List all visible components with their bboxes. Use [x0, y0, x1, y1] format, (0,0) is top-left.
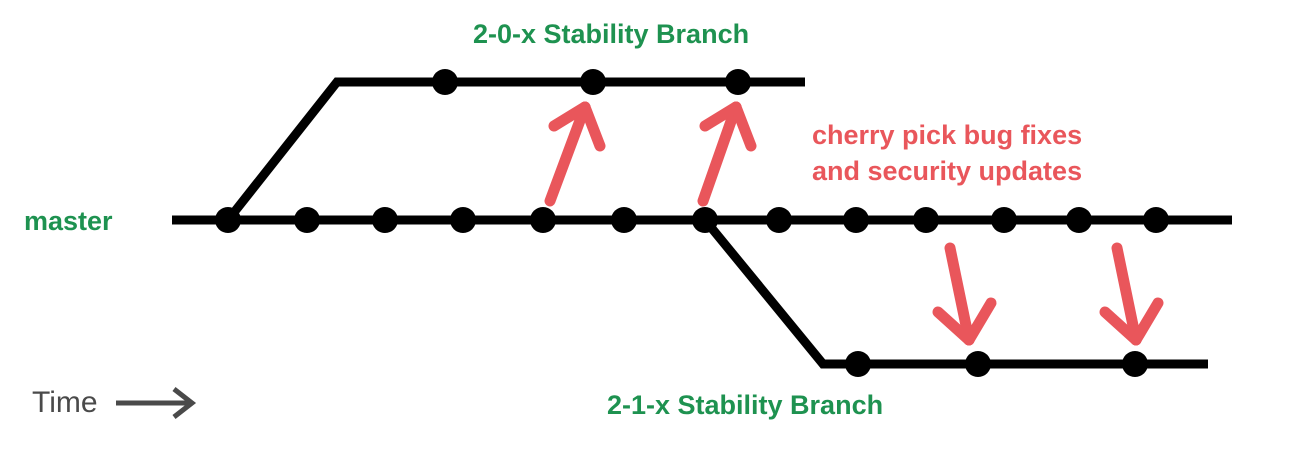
commit-dot[interactable]	[766, 207, 792, 233]
commit-dot[interactable]	[580, 69, 606, 95]
time-axis-label: Time	[32, 386, 98, 420]
bottom-branch-title: 2-1-x Stability Branch	[607, 390, 883, 421]
commit-dot[interactable]	[1122, 351, 1148, 377]
commit-dot[interactable]	[432, 69, 458, 95]
commit-dot[interactable]	[991, 207, 1017, 233]
master-lane-label: master	[24, 206, 113, 237]
commit-dot[interactable]	[611, 207, 637, 233]
commit-dot[interactable]	[530, 207, 556, 233]
commit-dot[interactable]	[450, 207, 476, 233]
commit-dot[interactable]	[1066, 207, 1092, 233]
cherry-pick-arrow-up-2	[703, 107, 751, 201]
commit-dot[interactable]	[913, 207, 939, 233]
commit-dot[interactable]	[965, 351, 991, 377]
commit-dot[interactable]	[372, 207, 398, 233]
time-axis: Time	[32, 386, 204, 420]
commit-dot[interactable]	[294, 207, 320, 233]
git-branching-diagram: 2-0-x Stability Branch 2-1-x Stability B…	[0, 0, 1310, 456]
cherry-pick-annotation-line1: cherry pick bug fixes	[812, 117, 1082, 153]
right-arrow-icon	[114, 386, 204, 420]
commit-dot[interactable]	[845, 351, 871, 377]
cherry-pick-annotation-line2: and security updates	[812, 153, 1082, 189]
commit-dot[interactable]	[1143, 207, 1169, 233]
cherry-pick-arrow-down-2	[1105, 248, 1158, 340]
cherry-pick-annotation: cherry pick bug fixes and security updat…	[812, 117, 1082, 189]
commit-dot[interactable]	[843, 207, 869, 233]
lane-master	[172, 207, 1232, 233]
cherry-pick-arrow-down-1	[938, 248, 991, 340]
cherry-pick-arrow-up-1	[550, 107, 600, 201]
top-branch-title: 2-0-x Stability Branch	[473, 19, 749, 50]
commit-dot[interactable]	[725, 69, 751, 95]
